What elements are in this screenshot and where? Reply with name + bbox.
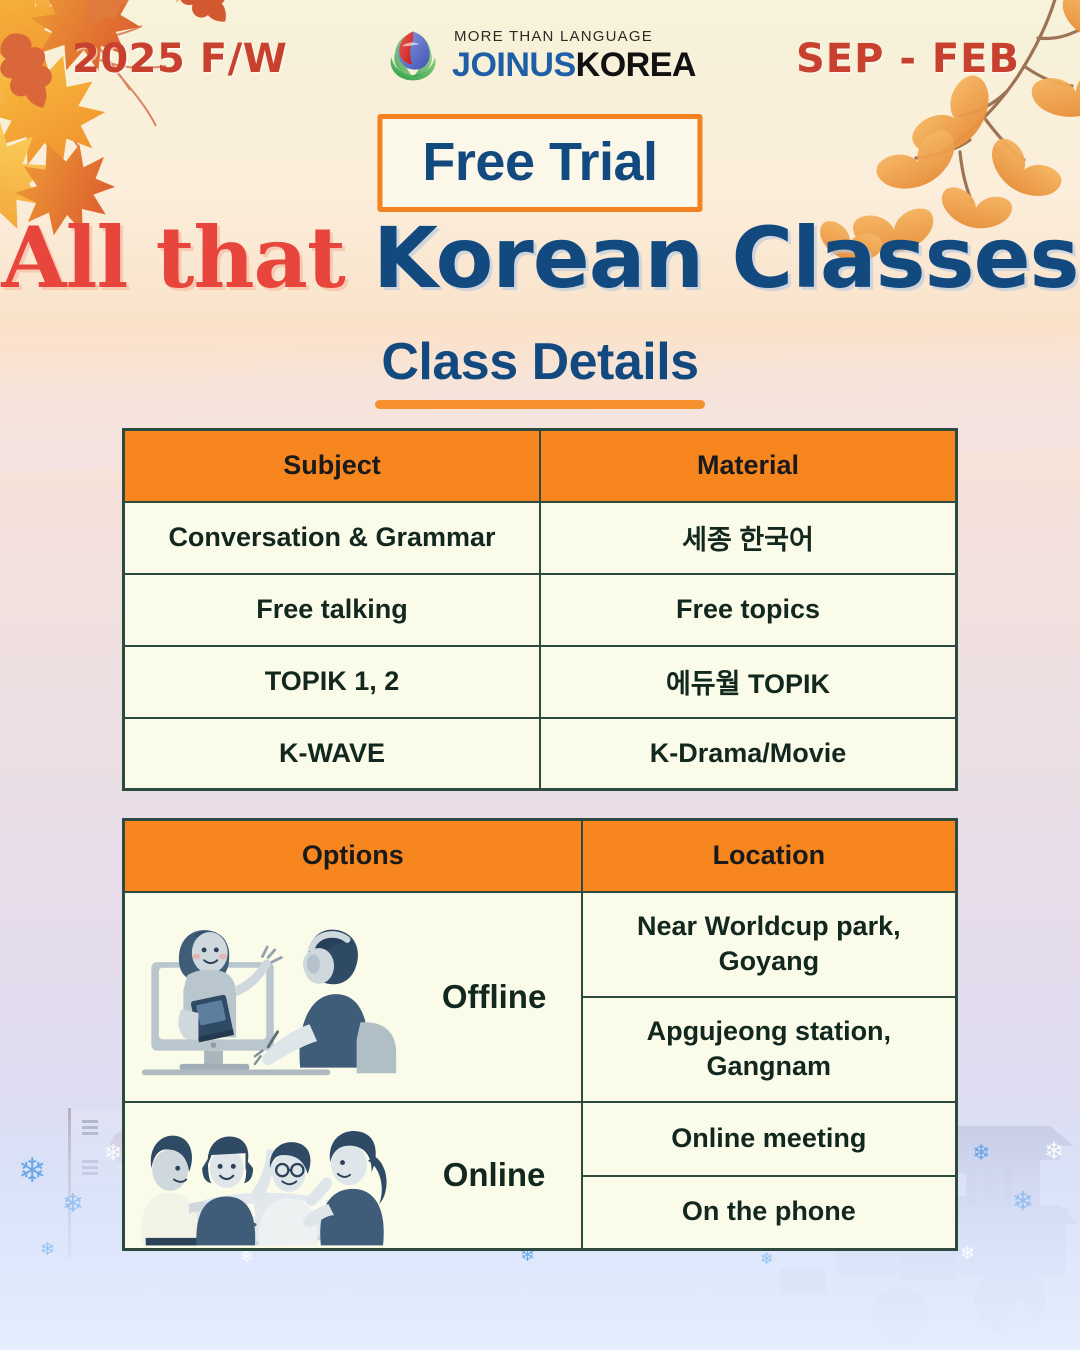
- cell-subject: Conversation & Grammar: [124, 502, 541, 574]
- cell-material: 에듀월 TOPIK: [540, 646, 957, 718]
- free-trial-badge: Free Trial: [377, 114, 702, 212]
- page-title: All that Korean Classes: [0, 208, 1080, 307]
- free-trial-label: Free Trial: [422, 132, 657, 192]
- poster-header: 2025 F/W MORE THAN LANGUAGE JOINUSKOREA …: [0, 0, 1080, 110]
- cell-option-offline: Offline: [124, 892, 582, 1102]
- option-label-offline: Offline: [407, 978, 580, 1016]
- cell-location-offline-1: Near Worldcup park, Goyang: [582, 892, 957, 997]
- cell-location-online-2: On the phone: [582, 1176, 957, 1250]
- cell-subject: Free talking: [124, 574, 541, 646]
- table-row: K-WAVE K-Drama/Movie: [124, 718, 957, 790]
- table-row: TOPIK 1, 2 에듀월 TOPIK: [124, 646, 957, 718]
- cell-option-online: Online: [124, 1102, 582, 1250]
- season-tag: 2025 F/W: [72, 36, 287, 82]
- online-group-illustration-icon: [125, 1103, 407, 1249]
- section-heading: Class Details: [0, 332, 1080, 409]
- cell-location-online-1: Online meeting: [582, 1102, 957, 1176]
- cell-location-offline-2: Apgujeong station, Gangnam: [582, 997, 957, 1102]
- cell-material: Free topics: [540, 574, 957, 646]
- brand-logo: MORE THAN LANGUAGE JOINUSKOREA: [384, 26, 696, 84]
- table-row-offline: Offline Near Worldcup park, Goyang: [124, 892, 957, 997]
- cell-material: K-Drama/Movie: [540, 718, 957, 790]
- cell-subject: TOPIK 1, 2: [124, 646, 541, 718]
- brand-name-part1: JOINUS: [452, 46, 576, 84]
- options-location-table: Options Location: [122, 818, 958, 1251]
- offline-class-illustration-icon: [125, 893, 407, 1101]
- option-label-online: Online: [407, 1156, 580, 1194]
- column-header-subject: Subject: [124, 430, 541, 502]
- section-heading-underline: [375, 400, 705, 409]
- month-range-tag: SEP - FEB: [796, 36, 1020, 82]
- brand-name: JOINUSKOREA: [452, 48, 696, 82]
- joinus-korea-logo-icon: [384, 26, 442, 84]
- column-header-location: Location: [582, 820, 957, 892]
- brand-tagline: MORE THAN LANGUAGE: [454, 29, 696, 44]
- table-row-online: Online Online meeting: [124, 1102, 957, 1176]
- brand-name-part2: KOREA: [576, 46, 696, 84]
- table-row: Free talking Free topics: [124, 574, 957, 646]
- table-header-row: Subject Material: [124, 430, 957, 502]
- column-header-options: Options: [124, 820, 582, 892]
- subject-material-table: Subject Material Conversation & Grammar …: [122, 428, 958, 791]
- section-heading-label: Class Details: [0, 332, 1080, 392]
- column-header-material: Material: [540, 430, 957, 502]
- page-title-red: All that: [1, 208, 344, 307]
- table-header-row: Options Location: [124, 820, 957, 892]
- table-row: Conversation & Grammar 세종 한국어: [124, 502, 957, 574]
- cell-subject: K-WAVE: [124, 718, 541, 790]
- page-title-blue: Korean Classes: [373, 209, 1079, 307]
- cell-material: 세종 한국어: [540, 502, 957, 574]
